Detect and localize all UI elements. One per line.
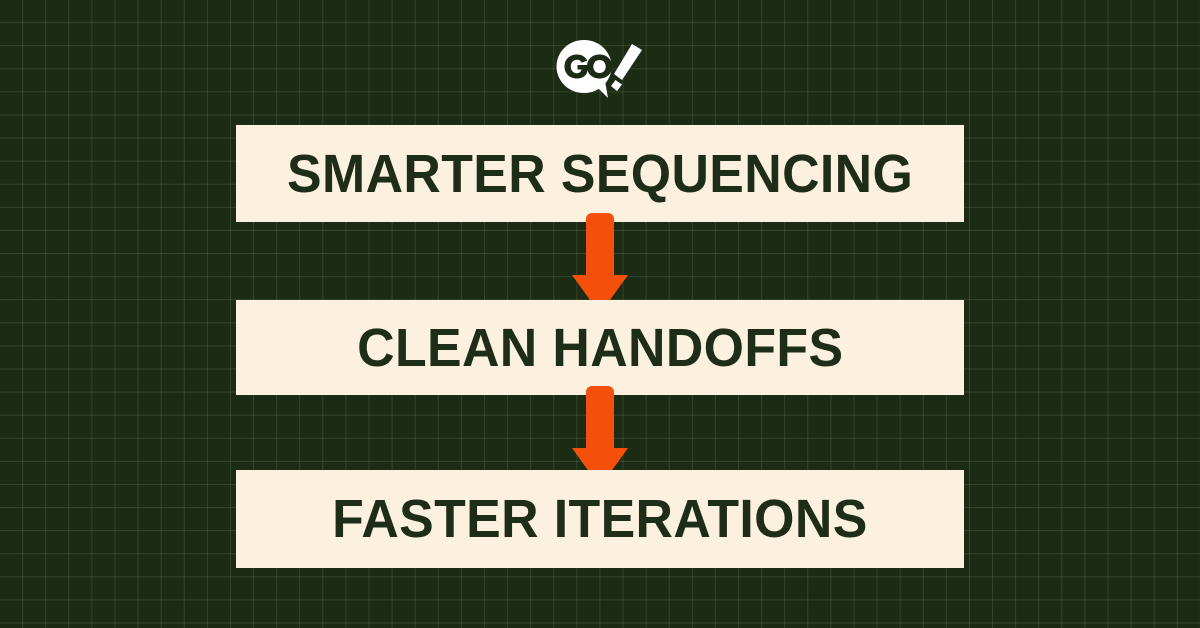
flow-step-3: FASTER ITERATIONS: [236, 470, 964, 568]
promo-graphic-canvas: SMARTER SEQUENCING CLEAN HANDOFFS FASTER…: [0, 0, 1200, 628]
flow-step-1: SMARTER SEQUENCING: [236, 125, 964, 222]
flow-step-2-label: CLEAN HANDOFFS: [357, 321, 843, 375]
go-speech-bubble-logo: [552, 36, 648, 98]
flow-step-1-label: SMARTER SEQUENCING: [287, 147, 913, 201]
flow-step-3-label: FASTER ITERATIONS: [332, 492, 868, 546]
flow-step-2: CLEAN HANDOFFS: [236, 300, 964, 395]
